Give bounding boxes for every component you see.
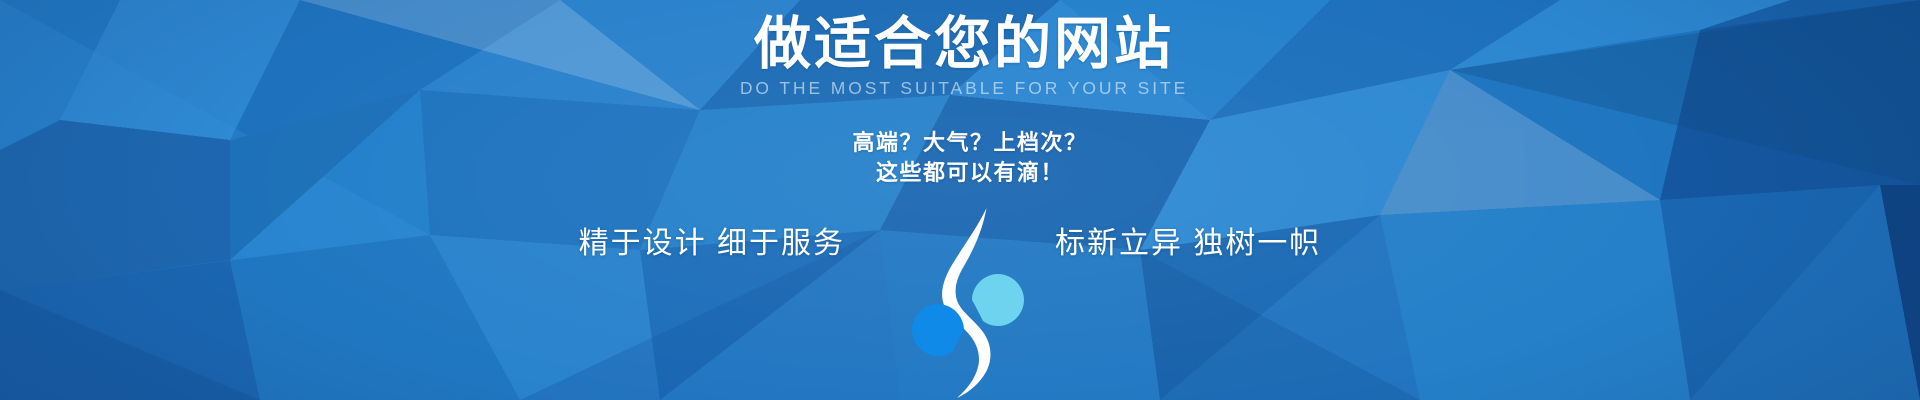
slogan-left: 精于设计 细于服务 <box>579 222 845 266</box>
slogan-right: 标新立异 独树一帜 <box>1055 222 1321 266</box>
title-block: 做适合您的网站 DO THE MOST SUITABLE FOR YOUR SI… <box>4 14 1920 98</box>
tagline-line-1: 高端？大气？上档次？ <box>10 128 1920 158</box>
tagline-line-2: 这些都可以有滴！ <box>10 158 1920 188</box>
brand-logo <box>908 206 1028 400</box>
subtitle-english: DO THE MOST SUITABLE FOR YOUR SITE <box>4 80 1920 98</box>
tagline-block: 高端？大气？上档次？ 这些都可以有滴！ <box>10 128 1920 188</box>
logo-leaf-upper-icon <box>972 274 1024 326</box>
page-title: 做适合您的网站 <box>4 14 1920 74</box>
promo-banner: 做适合您的网站 DO THE MOST SUITABLE FOR YOUR SI… <box>0 0 1920 400</box>
banner-content: 做适合您的网站 DO THE MOST SUITABLE FOR YOUR SI… <box>0 0 1920 400</box>
logo-leaf-lower-icon <box>912 304 964 356</box>
